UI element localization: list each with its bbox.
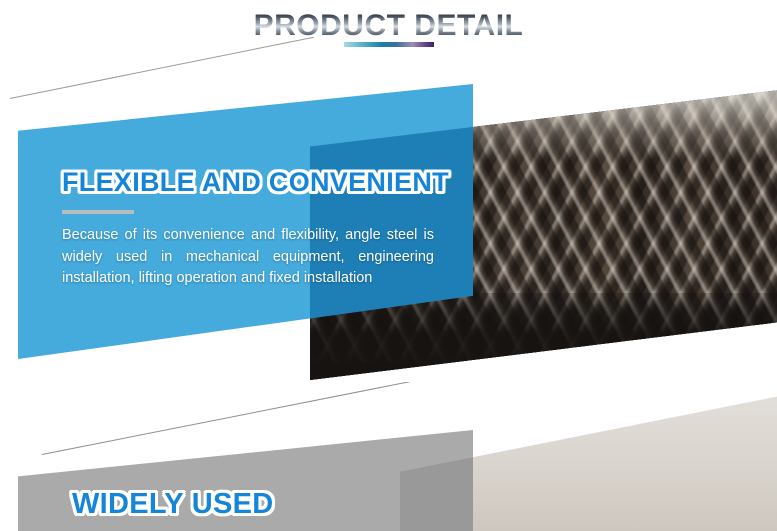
product-detail-page: PRODUCT DETAIL FLEXIBLE AND CONVENIENT B… bbox=[0, 0, 777, 531]
page-title: PRODUCT DETAIL bbox=[0, 10, 777, 42]
section-one-divider bbox=[62, 210, 134, 214]
section-one-text-block: FLEXIBLE AND CONVENIENT Because of its c… bbox=[62, 167, 434, 290]
title-underline-bar bbox=[344, 42, 434, 47]
section-two-text-block: WIDELY USED bbox=[72, 488, 452, 520]
page-header: PRODUCT DETAIL bbox=[0, 0, 777, 62]
section-two-heading: WIDELY USED bbox=[72, 488, 452, 520]
section-one-body-text: Because of its convenience and flexibili… bbox=[62, 225, 434, 290]
section-widely-used: WIDELY USED bbox=[0, 382, 777, 531]
section-one-heading: FLEXIBLE AND CONVENIENT bbox=[62, 167, 434, 197]
section-flexible-and-convenient: FLEXIBLE AND CONVENIENT Because of its c… bbox=[0, 62, 777, 382]
